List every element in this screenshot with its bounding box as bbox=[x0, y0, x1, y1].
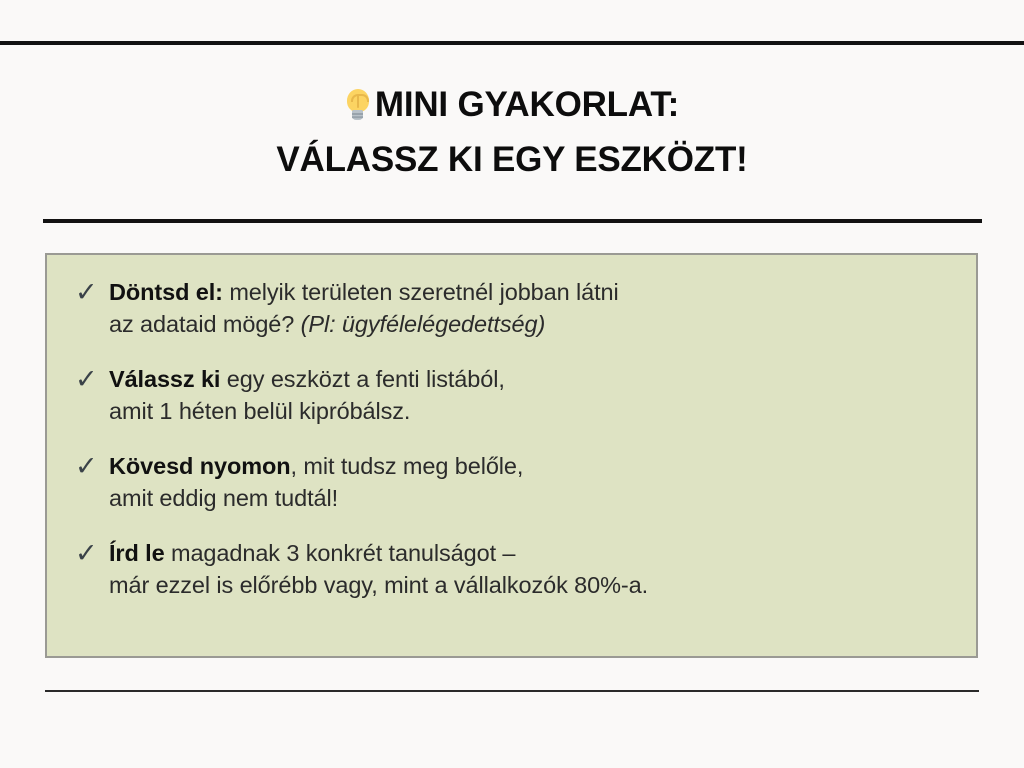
list-item: ✓ Válassz ki egy eszközt a fenti listábó… bbox=[75, 364, 962, 427]
lightbulb-icon bbox=[345, 88, 371, 122]
list-item-line-1: Döntsd el: melyik területen szeretnél jo… bbox=[109, 277, 962, 309]
list-item-body-2: amit 1 héten belül kipróbálsz. bbox=[109, 398, 410, 424]
list-item-line-2: már ezzel is előrébb vagy, mint a vállal… bbox=[109, 570, 962, 602]
list-item: ✓ Döntsd el: melyik területen szeretnél … bbox=[75, 277, 962, 340]
title-line-1-text: MINI GYAKORLAT: bbox=[375, 85, 679, 124]
list-item-text: Írd le magadnak 3 konkrét tanulságot – m… bbox=[109, 538, 962, 601]
list-item: ✓ Kövesd nyomon, mit tudsz meg belőle, a… bbox=[75, 451, 962, 514]
top-divider bbox=[0, 41, 1024, 45]
title-line-2: VÁLASSZ KI EGY ESZKÖZT! bbox=[0, 133, 1024, 188]
list-item-line-2: az adataid mögé? (Pl: ügyfélelégedettség… bbox=[109, 309, 962, 341]
list-item-lead: Kövesd nyomon bbox=[109, 453, 291, 479]
list-item-text: Válassz ki egy eszközt a fenti listából,… bbox=[109, 364, 962, 427]
list-item-body: , mit tudsz meg belőle, bbox=[291, 453, 524, 479]
list-item-line-1: Kövesd nyomon, mit tudsz meg belőle, bbox=[109, 451, 962, 483]
list-item-body: melyik területen szeretnél jobban látni bbox=[223, 279, 619, 305]
list-item-line-1: Válassz ki egy eszközt a fenti listából, bbox=[109, 364, 962, 396]
list-item-body-2: az adataid mögé? bbox=[109, 311, 301, 337]
list-item-body-2: amit eddig nem tudtál! bbox=[109, 485, 338, 511]
list-item-lead: Válassz ki bbox=[109, 366, 220, 392]
bottom-divider bbox=[45, 690, 979, 692]
check-icon: ✓ bbox=[75, 451, 109, 482]
check-icon: ✓ bbox=[75, 538, 109, 569]
list-item-line-2: amit 1 héten belül kipróbálsz. bbox=[109, 396, 962, 428]
list-item-line-2: amit eddig nem tudtál! bbox=[109, 483, 962, 515]
list-item-line-1: Írd le magadnak 3 konkrét tanulságot – bbox=[109, 538, 962, 570]
list-item-body-2: már ezzel is előrébb vagy, mint a vállal… bbox=[109, 572, 648, 598]
title-line-1: MINI GYAKORLAT: bbox=[0, 78, 1024, 133]
list-item: ✓ Írd le magadnak 3 konkrét tanulságot –… bbox=[75, 538, 962, 601]
checklist: ✓ Döntsd el: melyik területen szeretnél … bbox=[75, 277, 962, 601]
list-item-body: magadnak 3 konkrét tanulságot – bbox=[165, 540, 516, 566]
checklist-panel: ✓ Döntsd el: melyik területen szeretnél … bbox=[45, 253, 978, 658]
check-icon: ✓ bbox=[75, 277, 109, 308]
title-divider bbox=[43, 219, 982, 223]
list-item-text: Döntsd el: melyik területen szeretnél jo… bbox=[109, 277, 962, 340]
list-item-body: egy eszközt a fenti listából, bbox=[220, 366, 504, 392]
check-icon: ✓ bbox=[75, 364, 109, 395]
list-item-text: Kövesd nyomon, mit tudsz meg belőle, ami… bbox=[109, 451, 962, 514]
page-title: MINI GYAKORLAT: VÁLASSZ KI EGY ESZKÖZT! bbox=[0, 78, 1024, 187]
list-item-lead: Döntsd el: bbox=[109, 279, 223, 305]
list-item-lead: Írd le bbox=[109, 540, 165, 566]
list-item-example: (Pl: ügyfélelégedettség) bbox=[301, 311, 546, 337]
